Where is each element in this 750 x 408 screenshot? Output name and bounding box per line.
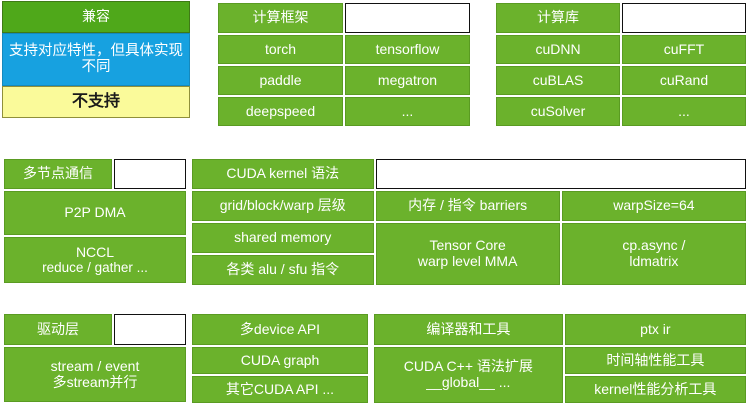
driver-stream-label: stream / event: [7, 359, 183, 375]
framework-cell[interactable]: torch: [218, 35, 343, 64]
driver-api-row: 其它CUDA API ...: [192, 376, 368, 403]
libraries-row: cuDNN cuFFT: [496, 35, 746, 64]
framework-cell[interactable]: ...: [345, 97, 470, 126]
cuda-kernel-tensorcore-label: Tensor Core: [379, 238, 557, 254]
cuda-kernel-header-blank: [376, 159, 747, 189]
driver-row: stream / event 多stream并行: [4, 347, 186, 402]
driver-api-table: 多device API CUDA graph 其它CUDA API ...: [190, 312, 370, 405]
compiler-cxx-sublabel: __global__ ...: [377, 375, 560, 391]
driver-table: 驱动层 stream / event 多stream并行: [2, 312, 188, 404]
frameworks-header-blank: [345, 3, 470, 33]
multinode-row: P2P DMA: [4, 191, 186, 235]
libraries-table: 计算库 cuDNN cuFFT cuBLAS cuRand cuSolver .…: [494, 1, 748, 128]
frameworks-row: torch tensorflow: [218, 35, 470, 64]
frameworks-row: deepspeed ...: [218, 97, 470, 126]
multinode-table: 多节点通信 P2P DMA NCCL reduce / gather ...: [2, 157, 188, 285]
driver-group: 驱动层 stream / event 多stream并行: [2, 312, 188, 402]
library-cell[interactable]: cuSolver: [496, 97, 620, 126]
multinode-row: NCCL reduce / gather ...: [4, 237, 186, 283]
cuda-kernel-alusfu-cell[interactable]: 各类 alu / sfu 指令: [192, 255, 374, 285]
libraries-header-row: 计算库: [496, 3, 746, 33]
compiler-row: CUDA C++ 语法扩展 __global__ ... 时间轴性能工具: [374, 347, 746, 374]
driver-title: 驱动层: [4, 314, 112, 345]
framework-cell[interactable]: tensorflow: [345, 35, 470, 64]
driver-api-group: 多device API CUDA graph 其它CUDA API ...: [190, 312, 370, 402]
legend-compatible-cell: 兼容: [2, 1, 190, 33]
cuda-kernel-title: CUDA kernel 语法: [192, 159, 374, 189]
cuda-kernel-row: shared memory Tensor Core warp level MMA…: [192, 223, 746, 253]
frameworks-header-row: 计算框架: [218, 3, 470, 33]
compiler-table: 编译器和工具 ptx ir CUDA C++ 语法扩展 __global__ .…: [372, 312, 748, 405]
libraries-header-blank: [622, 3, 746, 33]
frameworks-group: 计算框架 torch tensorflow paddle megatron de…: [216, 1, 472, 125]
compiler-group: 编译器和工具 ptx ir CUDA C++ 语法扩展 __global__ .…: [372, 312, 748, 402]
multinode-header-row: 多节点通信: [4, 159, 186, 189]
driver-api-row: 多device API: [192, 314, 368, 345]
cuda-kernel-cpasync-sublabel: ldmatrix: [565, 254, 743, 270]
driver-header-row: 驱动层: [4, 314, 186, 345]
multinode-nccl-sublabel: reduce / gather ...: [7, 260, 183, 275]
multinode-group: 多节点通信 P2P DMA NCCL reduce / gather ...: [2, 157, 188, 283]
cuda-kernel-group: CUDA kernel 语法 grid/block/warp 层级 内存 / 指…: [190, 157, 748, 283]
legend-row-compatible: 兼容: [2, 1, 190, 33]
driver-stream-sublabel: 多stream并行: [7, 375, 183, 391]
libraries-row: cuBLAS cuRand: [496, 66, 746, 95]
compiler-cxx-label: CUDA C++ 语法扩展: [377, 359, 560, 375]
frameworks-row: paddle megatron: [218, 66, 470, 95]
legend-row-unsupported: 不支持: [2, 86, 190, 118]
cuda-kernel-barriers-cell[interactable]: 内存 / 指令 barriers: [376, 191, 560, 221]
cuda-kernel-warpsize-cell[interactable]: warpSize=64: [562, 191, 746, 221]
library-cell[interactable]: ...: [622, 97, 746, 126]
frameworks-table: 计算框架 torch tensorflow paddle megatron de…: [216, 1, 472, 128]
framework-cell[interactable]: deepspeed: [218, 97, 343, 126]
legend-box: 兼容 支持对应特性，但具体实现不同 不支持: [2, 1, 190, 118]
library-cell[interactable]: cuDNN: [496, 35, 620, 64]
driver-api-other-cell[interactable]: 其它CUDA API ...: [192, 376, 368, 403]
libraries-row: cuSolver ...: [496, 97, 746, 126]
multinode-p2p-cell[interactable]: P2P DMA: [4, 191, 186, 235]
cuda-kernel-header-row: CUDA kernel 语法: [192, 159, 746, 189]
cuda-kernel-row: grid/block/warp 层级 内存 / 指令 barriers warp…: [192, 191, 746, 221]
multinode-header-blank: [114, 159, 186, 189]
compiler-ptx-cell[interactable]: ptx ir: [565, 314, 746, 345]
framework-cell[interactable]: megatron: [345, 66, 470, 95]
driver-stream-cell[interactable]: stream / event 多stream并行: [4, 347, 186, 402]
driver-api-row: CUDA graph: [192, 347, 368, 374]
compiler-kernel-tool-cell[interactable]: kernel性能分析工具: [565, 376, 746, 403]
cuda-kernel-cpasync-cell[interactable]: cp.async / ldmatrix: [562, 223, 746, 285]
driver-api-cudagraph-cell[interactable]: CUDA graph: [192, 347, 368, 374]
cuda-kernel-grid-cell[interactable]: grid/block/warp 层级: [192, 191, 374, 221]
cuda-kernel-table: CUDA kernel 语法 grid/block/warp 层级 内存 / 指…: [190, 157, 748, 287]
library-cell[interactable]: cuRand: [622, 66, 746, 95]
libraries-title: 计算库: [496, 3, 620, 33]
frameworks-title: 计算框架: [218, 3, 343, 33]
compiler-cxx-cell[interactable]: CUDA C++ 语法扩展 __global__ ...: [374, 347, 563, 403]
compiler-title: 编译器和工具: [374, 314, 563, 345]
multinode-nccl-label: NCCL: [7, 245, 183, 261]
library-cell[interactable]: cuFFT: [622, 35, 746, 64]
multinode-nccl-cell[interactable]: NCCL reduce / gather ...: [4, 237, 186, 283]
legend-row-partial: 支持对应特性，但具体实现不同: [2, 33, 190, 87]
cuda-kernel-tensorcore-sublabel: warp level MMA: [379, 254, 557, 270]
legend-unsupported-cell: 不支持: [2, 86, 190, 118]
cuda-kernel-cpasync-label: cp.async /: [565, 238, 743, 254]
legend-table: 兼容 支持对应特性，但具体实现不同 不支持: [2, 1, 190, 118]
multinode-title: 多节点通信: [4, 159, 112, 189]
cuda-kernel-tensorcore-cell[interactable]: Tensor Core warp level MMA: [376, 223, 560, 285]
driver-api-multidevice-cell[interactable]: 多device API: [192, 314, 368, 345]
framework-cell[interactable]: paddle: [218, 66, 343, 95]
libraries-group: 计算库 cuDNN cuFFT cuBLAS cuRand cuSolver .…: [494, 1, 748, 125]
cuda-kernel-sharedmem-cell[interactable]: shared memory: [192, 223, 374, 253]
compiler-header-row: 编译器和工具 ptx ir: [374, 314, 746, 345]
library-cell[interactable]: cuBLAS: [496, 66, 620, 95]
multinode-p2p-label: P2P DMA: [64, 204, 125, 220]
compiler-timeline-tool-cell[interactable]: 时间轴性能工具: [565, 347, 746, 374]
legend-partial-cell: 支持对应特性，但具体实现不同: [2, 33, 190, 87]
driver-header-blank: [114, 314, 186, 345]
